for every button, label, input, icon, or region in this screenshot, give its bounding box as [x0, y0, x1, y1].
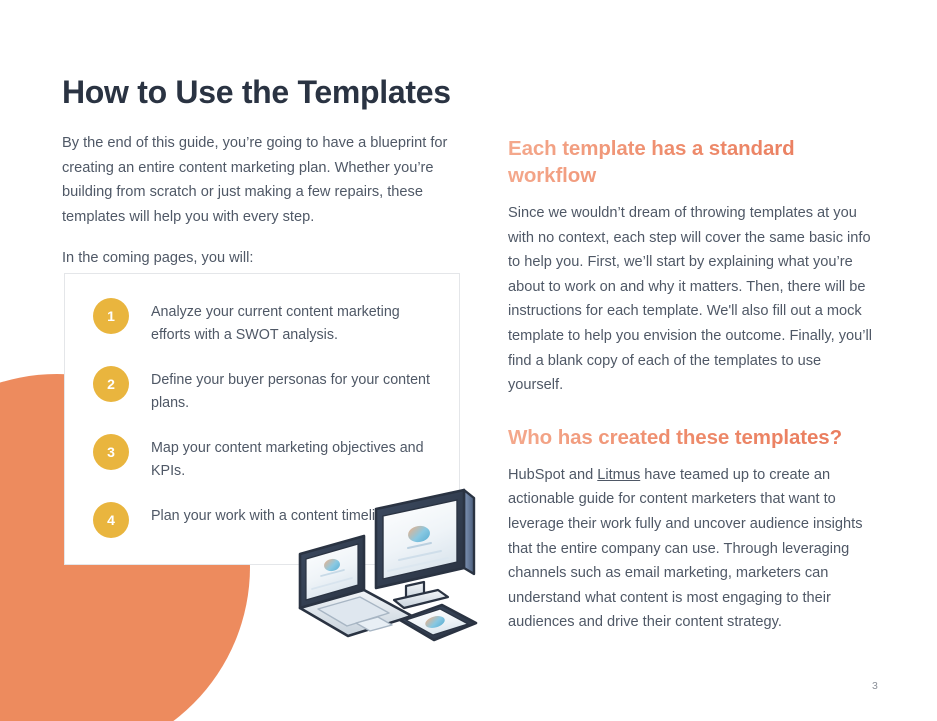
lead-in-text: In the coming pages, you will: [62, 246, 462, 271]
page-title: How to Use the Templates [62, 72, 451, 112]
creators-paragraph: HubSpot and Litmus have teamed up to cre… [508, 463, 880, 635]
page-number: 3 [872, 680, 878, 692]
step-text: Define your buyer personas for your cont… [151, 365, 431, 415]
litmus-link[interactable]: Litmus [597, 467, 640, 483]
monitor-illustration [376, 490, 474, 608]
step-number-badge: 1 [93, 298, 129, 334]
devices-isometric-illustration [288, 468, 493, 653]
section-heading-workflow: Each template has a standard workflow [508, 135, 880, 189]
smartphone-illustration [400, 605, 476, 640]
creators-text-after-link: have teamed up to create an actionable g… [508, 467, 863, 631]
list-item: 1 Analyze your current content marketing… [93, 297, 442, 347]
step-text: Analyze your current content marketing e… [151, 297, 431, 347]
step-number-badge: 3 [93, 434, 129, 470]
left-column-intro: By the end of this guide, you’re going t… [62, 131, 462, 271]
step-number-badge: 2 [93, 366, 129, 402]
list-item: 2 Define your buyer personas for your co… [93, 365, 442, 415]
creators-text-before-link: HubSpot and [508, 467, 597, 483]
intro-paragraph: By the end of this guide, you’re going t… [62, 131, 462, 229]
step-number-badge: 4 [93, 502, 129, 538]
right-column: Each template has a standard workflow Si… [508, 135, 880, 635]
workflow-paragraph: Since we wouldn’t dream of throwing temp… [508, 201, 880, 398]
section-heading-creators: Who has created these templates? [508, 424, 880, 451]
document-page: How to Use the Templates By the end of t… [0, 0, 937, 721]
